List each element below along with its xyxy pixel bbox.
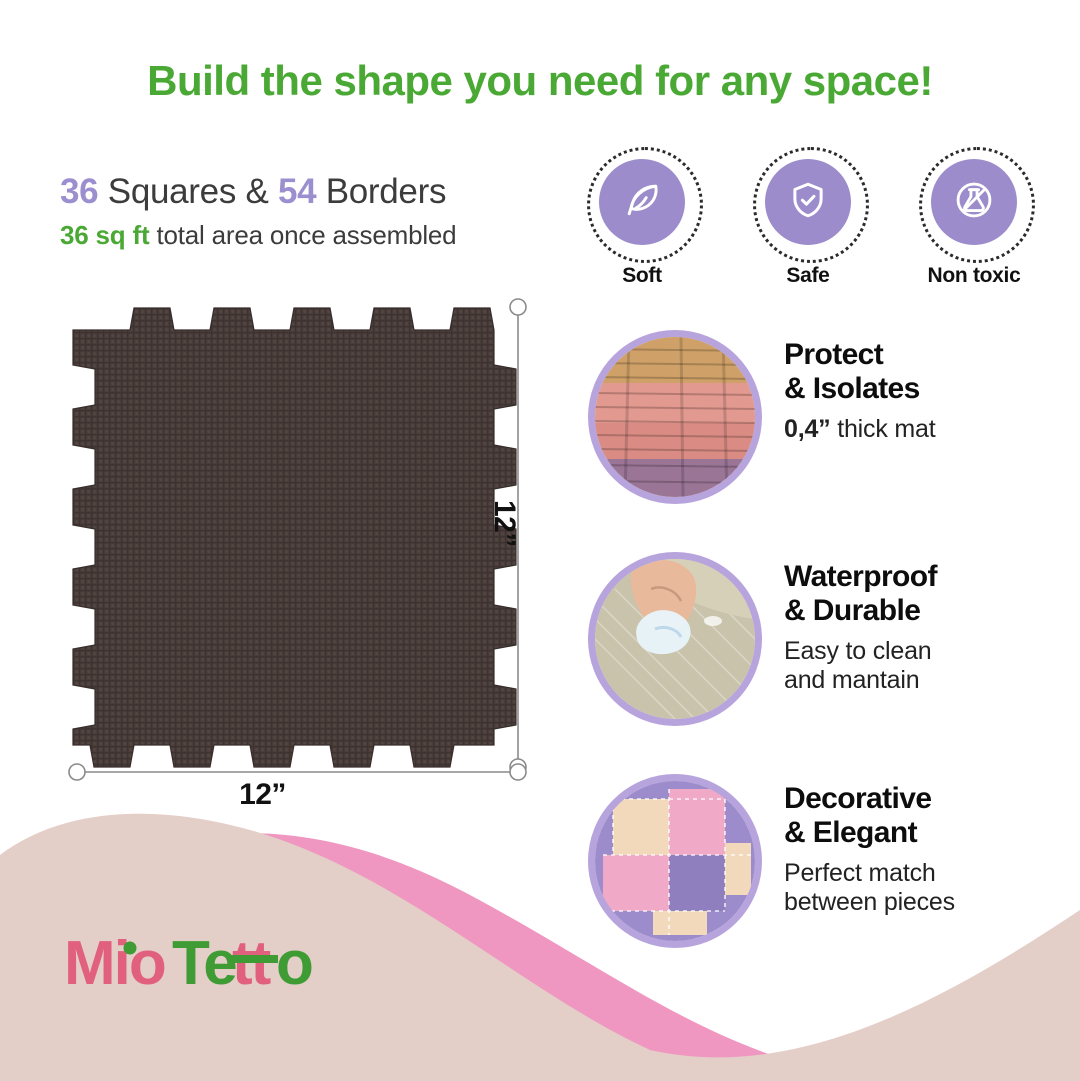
badge-ring-non-toxic bbox=[924, 152, 1024, 252]
badge-non-toxic: Non toxic bbox=[910, 152, 1038, 288]
logo-text-tt: tt bbox=[232, 929, 271, 998]
feature-title-line1: Decorative bbox=[784, 782, 955, 816]
feature-title: Decorative & Elegant bbox=[784, 782, 955, 849]
borders-label: Borders bbox=[316, 172, 446, 211]
cleaning-hand-photo bbox=[588, 552, 762, 726]
feature-subtitle-line2: and mantain bbox=[784, 666, 937, 695]
feature-subtitle-line2: between pieces bbox=[784, 888, 955, 917]
counts-block: 36 Squares & 54 Borders 36 sq ft total a… bbox=[60, 172, 456, 251]
infographic-root: Build the shape you need for any space! … bbox=[0, 0, 1080, 1081]
feature-subtitle-rest: Easy to clean bbox=[784, 637, 937, 666]
squares-label: Squares & bbox=[98, 172, 278, 211]
page-headline: Build the shape you need for any space! bbox=[0, 58, 1080, 104]
logo-text-o: o bbox=[276, 929, 312, 998]
feature-list: Protect & Isolates 0,4” thick mat bbox=[588, 330, 1058, 948]
logo-text-mio: Mio bbox=[64, 929, 165, 998]
colored-tiles-photo bbox=[588, 774, 762, 948]
feature-title: Waterproof & Durable bbox=[784, 560, 937, 627]
mat-diagram bbox=[55, 290, 555, 800]
area-label: total area once assembled bbox=[149, 220, 456, 250]
brand-logo: Mio Te tt o bbox=[64, 928, 354, 998]
badge-ring-soft bbox=[592, 152, 692, 252]
feature-text: Protect & Isolates 0,4” thick mat bbox=[762, 330, 935, 444]
badge-soft: Soft bbox=[578, 152, 706, 288]
feature-subtitle: 0,4” thick mat bbox=[784, 415, 935, 444]
feature-subtitle-strong: 0,4” bbox=[784, 415, 830, 443]
feature-text: Decorative & Elegant Perfect match betwe… bbox=[762, 774, 955, 917]
squares-count: 36 bbox=[60, 172, 98, 211]
mat-tile-shape bbox=[73, 308, 516, 767]
feature-subtitle: Perfect match between pieces bbox=[784, 859, 955, 917]
feature-title-line2: & Elegant bbox=[784, 816, 955, 850]
feature-title-line1: Protect bbox=[784, 338, 935, 372]
feature-row: Protect & Isolates 0,4” thick mat bbox=[588, 330, 1058, 504]
feature-text: Waterproof & Durable Easy to clean and m… bbox=[762, 552, 937, 695]
badge-label-soft: Soft bbox=[622, 264, 662, 288]
feature-title-line2: & Isolates bbox=[784, 372, 935, 406]
badge-safe: Safe bbox=[744, 152, 872, 288]
feature-title-line1: Waterproof bbox=[784, 560, 937, 594]
dotted-ring bbox=[753, 147, 869, 263]
feature-subtitle: Easy to clean and mantain bbox=[784, 637, 937, 695]
badge-ring-safe bbox=[758, 152, 858, 252]
logo-dot bbox=[124, 942, 137, 955]
dotted-ring bbox=[587, 147, 703, 263]
feature-row: Decorative & Elegant Perfect match betwe… bbox=[588, 774, 1058, 948]
dimension-label-width: 12” bbox=[0, 778, 525, 812]
area-value: 36 sq ft bbox=[60, 220, 149, 250]
feature-title: Protect & Isolates bbox=[784, 338, 935, 405]
headline-text: Build the shape you need for any space! bbox=[147, 57, 933, 104]
logo-text-tetto: Te bbox=[172, 929, 236, 998]
feature-subtitle-rest: thick mat bbox=[830, 415, 935, 443]
feature-badges: Soft Safe bbox=[578, 152, 1038, 288]
badge-label-safe: Safe bbox=[786, 264, 829, 288]
feature-row: Waterproof & Durable Easy to clean and m… bbox=[588, 552, 1058, 726]
counts-primary-line: 36 Squares & 54 Borders bbox=[60, 172, 456, 212]
stacked-mats-photo bbox=[588, 330, 762, 504]
dimension-label-height: 12” bbox=[487, 500, 521, 547]
counts-secondary-line: 36 sq ft total area once assembled bbox=[60, 220, 456, 251]
feature-subtitle-rest: Perfect match bbox=[784, 859, 955, 888]
logo-crossbar bbox=[230, 955, 278, 963]
feature-title-line2: & Durable bbox=[784, 594, 937, 628]
borders-count: 54 bbox=[278, 172, 316, 211]
badge-label-non-toxic: Non toxic bbox=[928, 264, 1021, 288]
dotted-ring bbox=[919, 147, 1035, 263]
